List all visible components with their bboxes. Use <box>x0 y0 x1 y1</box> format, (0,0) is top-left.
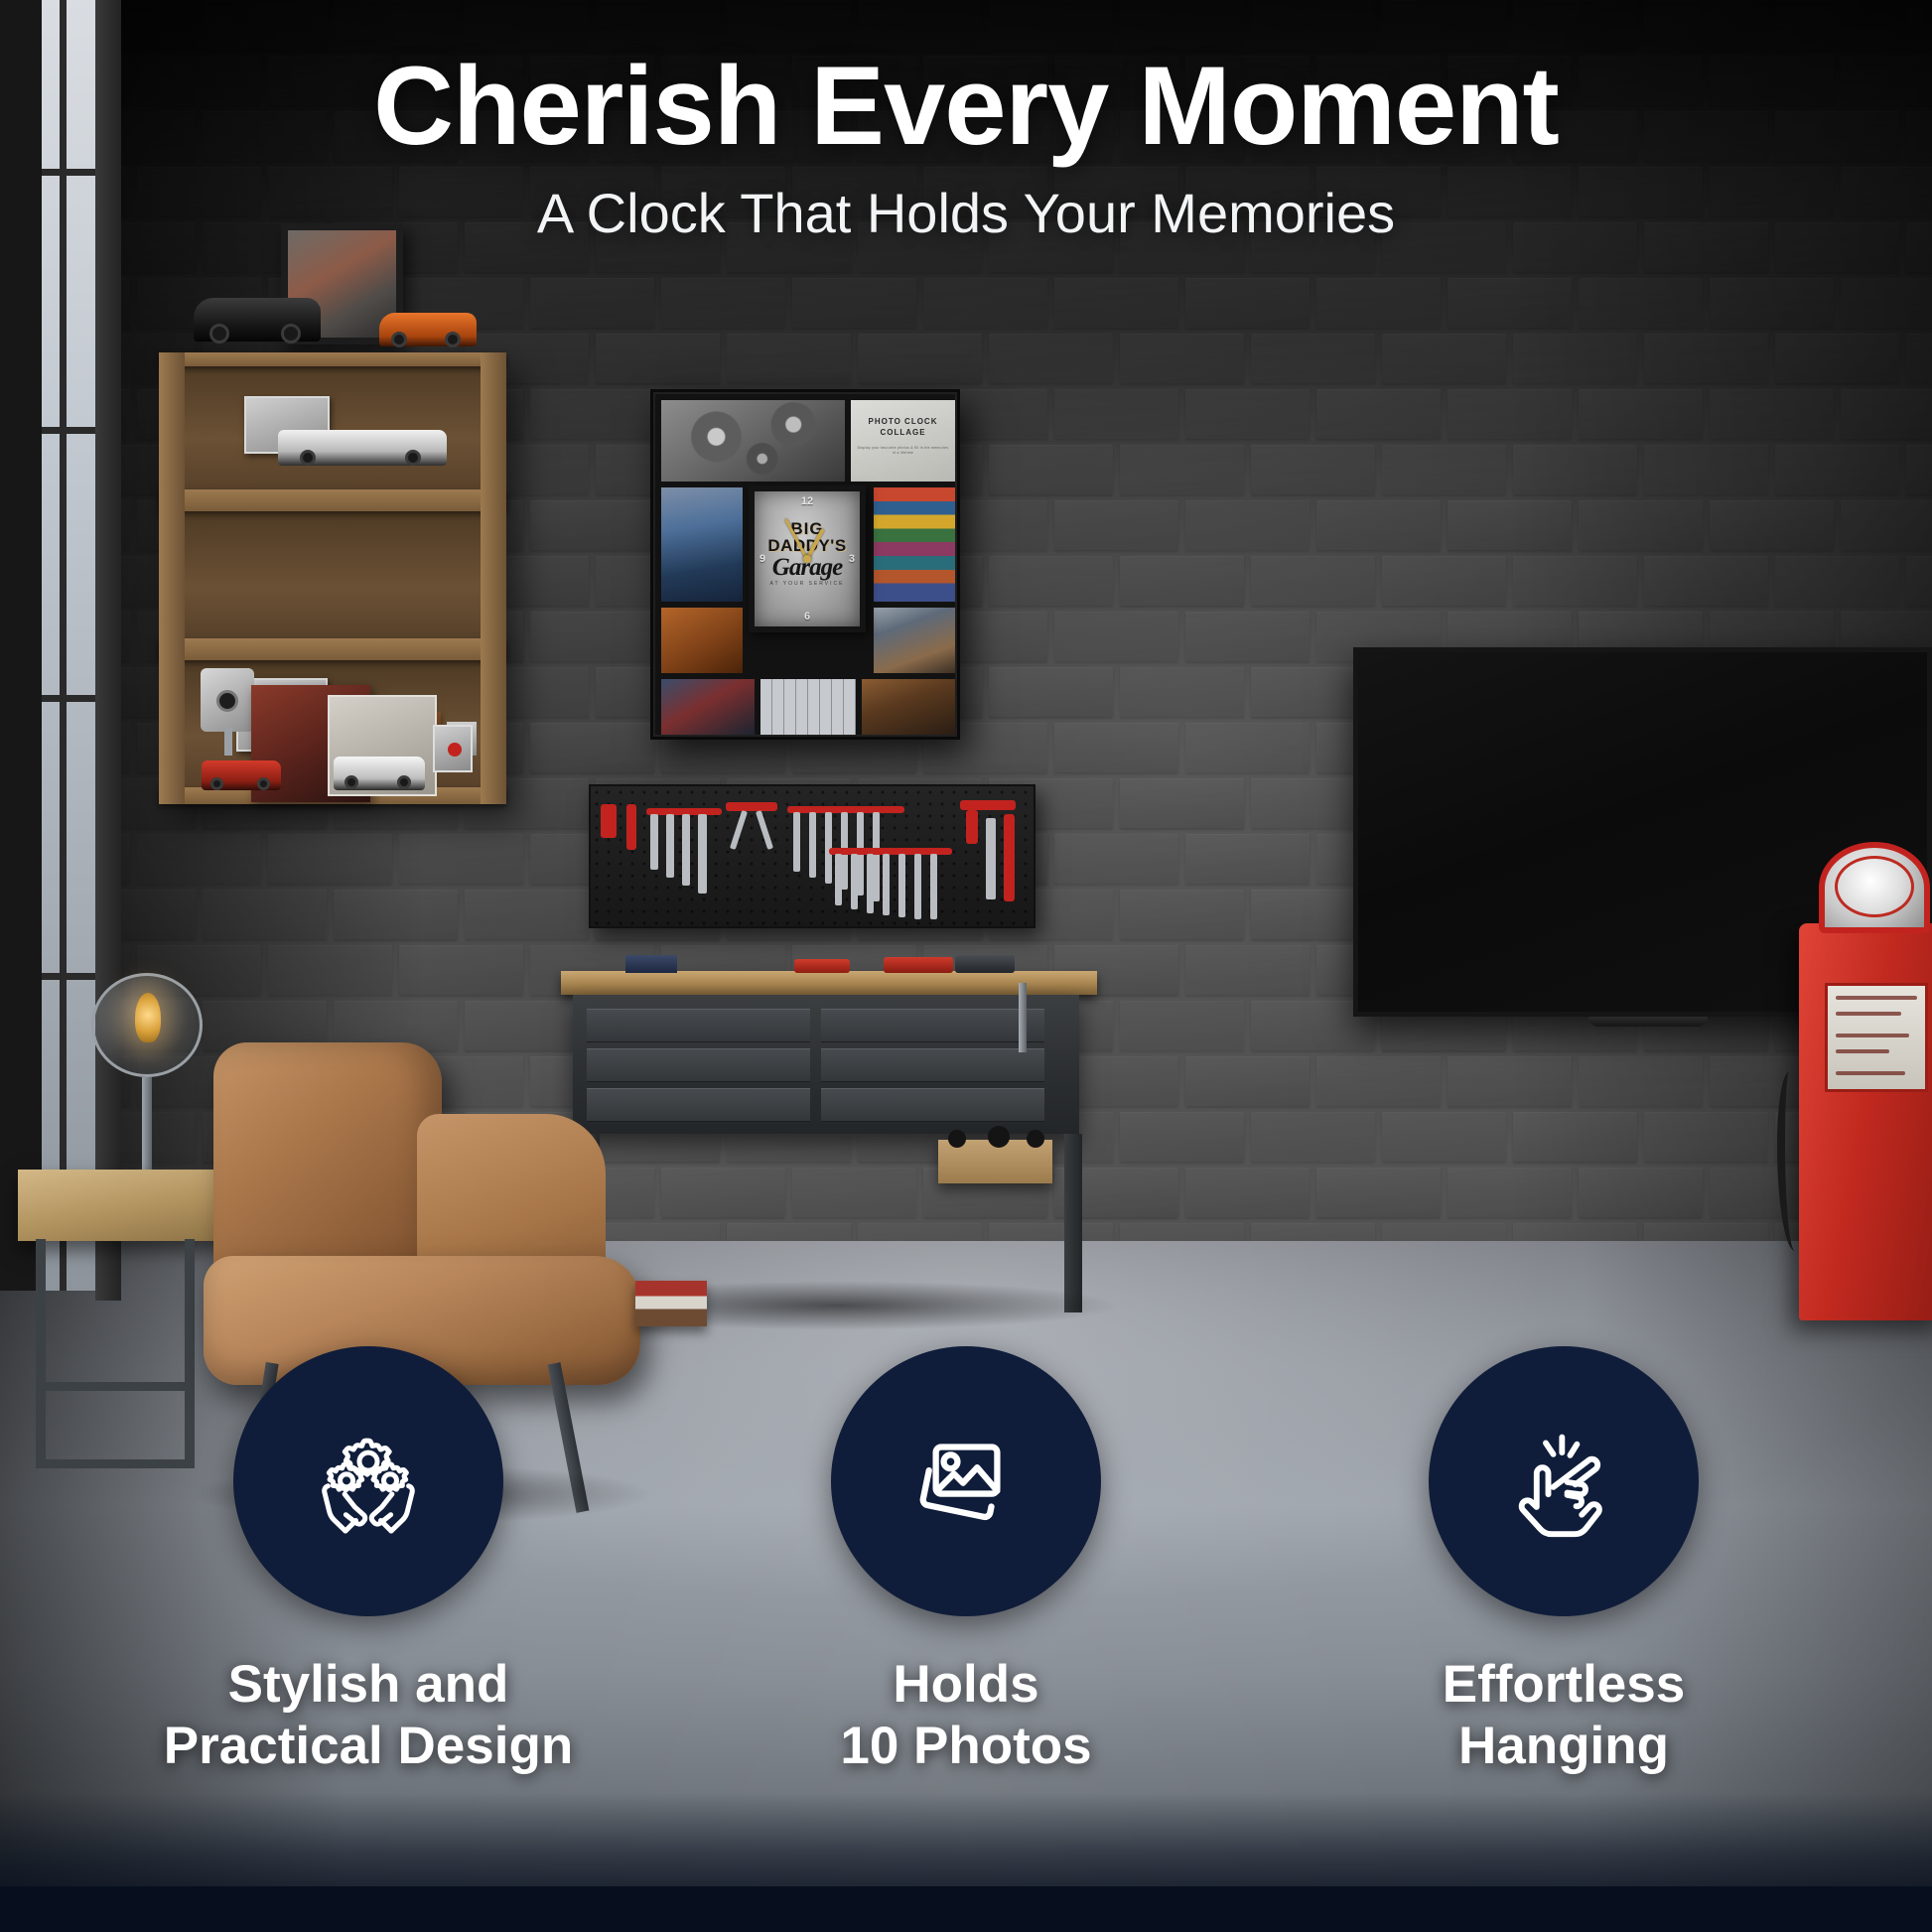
bench-item-red-tool <box>794 959 850 973</box>
pegboard-tool-red <box>1004 814 1015 901</box>
collage-photo-mechanic <box>661 487 743 602</box>
workbench-drawer <box>587 1088 810 1122</box>
workbench-drawer <box>821 1048 1044 1082</box>
feature-label-hanging: Effortless Hanging <box>1443 1654 1685 1777</box>
feature-item-design: Stylish and Practical Design <box>110 1346 626 1777</box>
card-caption: Display your favourite photos & fill in … <box>857 446 949 456</box>
shelf-bay-mid <box>185 511 481 638</box>
pegboard-tool-red <box>960 800 1016 810</box>
pegboard-pry-bar <box>986 818 996 899</box>
collage-info-card: PHOTO CLOCK COLLAGE Display your favouri… <box>851 400 955 482</box>
book-stack <box>635 1281 707 1326</box>
clock-logo-line4: AT YOUR SERVICE <box>755 581 860 587</box>
model-car-silver <box>334 757 425 790</box>
bottom-navy-bar <box>0 1886 1932 1932</box>
feature-item-hanging: Effortless Hanging <box>1306 1346 1822 1777</box>
workbench-top <box>561 971 1097 995</box>
pegboard-wrench <box>682 814 690 886</box>
wood-side-table <box>18 1170 231 1241</box>
clock-numeral-6: 6 <box>804 611 810 622</box>
pegboard-screwdriver <box>835 854 842 905</box>
shelf-side-panel <box>481 352 506 804</box>
tv-stand <box>1588 1017 1708 1027</box>
card-title: PHOTO CLOCK COLLAGE <box>851 416 955 438</box>
pegboard-wrench <box>793 812 800 872</box>
collage-photo-welding <box>661 679 755 735</box>
feature-label-line1: Stylish and <box>228 1655 509 1714</box>
feature-row: Stylish and Practical Design Holds 10 Ph… <box>0 1346 1932 1777</box>
crate-item <box>988 1126 1010 1148</box>
bench-item-tool <box>955 955 1015 973</box>
shelf-bay-top <box>185 362 481 489</box>
pegboard-tool <box>756 810 773 850</box>
feature-label-photos: Holds 10 Photos <box>840 1654 1091 1777</box>
workbench-drawer <box>587 1048 810 1082</box>
workbench-drawer <box>821 1009 1044 1042</box>
gas-pump-dial <box>1835 856 1914 917</box>
collage-photo-engine <box>862 679 955 735</box>
feature-label-line2: Practical Design <box>164 1717 573 1775</box>
banner-header: Cherish Every Moment A Clock That Holds … <box>0 48 1932 244</box>
pegboard-tool-red <box>966 810 978 844</box>
workbench-cabinet <box>573 995 1079 1134</box>
collage-photo-man <box>874 608 955 673</box>
hand-tap-icon <box>1497 1415 1630 1548</box>
pegboard-tool-red <box>601 804 617 838</box>
pegboard-screwdriver <box>914 854 921 919</box>
crate-item <box>1027 1130 1044 1148</box>
shelf-board <box>159 352 506 366</box>
model-car-black <box>194 298 321 342</box>
collage-photo-tools <box>661 608 743 673</box>
pegboard-screwdriver <box>851 854 858 909</box>
clock-numeral-12: 12 <box>801 495 813 507</box>
feature-label-design: Stylish and Practical Design <box>164 1654 573 1777</box>
pegboard-tool <box>730 810 748 850</box>
pegboard-wrench <box>873 812 880 901</box>
headline-title: Cherish Every Moment <box>0 48 1932 165</box>
model-car-red <box>202 760 281 790</box>
product-lifestyle-banner: PHOTO CLOCK COLLAGE Display your favouri… <box>0 0 1932 1932</box>
feature-label-line2: 10 Photos <box>840 1717 1091 1775</box>
hands-holding-gears-icon <box>302 1415 435 1548</box>
collage-photo-gears <box>661 400 845 482</box>
shelf-small-frame <box>433 725 473 772</box>
feature-item-photos: Holds 10 Photos <box>708 1346 1224 1777</box>
shelf-board <box>159 638 506 660</box>
shelf-speaker <box>201 668 254 732</box>
pegboard-screwdriver <box>867 854 874 913</box>
headline-subtitle: A Clock That Holds Your Memories <box>0 183 1932 244</box>
lamp-filament <box>135 993 161 1042</box>
bench-vise-handle <box>1019 983 1027 1052</box>
bench-item-box <box>625 955 677 973</box>
bench-item-red-tool <box>884 957 953 973</box>
model-car-white <box>278 430 447 466</box>
clock-hub <box>803 555 811 563</box>
pegboard-wrench <box>666 814 674 878</box>
pegboard-wrench <box>809 812 816 878</box>
lamp-stem <box>142 1077 152 1174</box>
pegboard-tool-red <box>726 802 777 811</box>
clock-logo-line1: BIG <box>755 521 860 537</box>
pegboard-screwdriver <box>898 854 905 917</box>
feature-label-line1: Holds <box>893 1655 1038 1714</box>
feature-icon-badge <box>1429 1346 1699 1616</box>
workbench-drawer <box>821 1088 1044 1122</box>
clock-logo-line2: DADDY'S <box>755 537 860 554</box>
shelf-speaker-stand <box>224 728 232 756</box>
pegboard-tool-red <box>626 804 636 850</box>
pegboard-wrench <box>698 814 707 894</box>
feature-label-line2: Hanging <box>1458 1717 1669 1775</box>
tool-pegboard <box>589 784 1035 928</box>
pegboard-wrench <box>650 814 658 870</box>
gas-pump-panel <box>1825 983 1928 1092</box>
workbench-drawer <box>587 1009 810 1042</box>
collage-photo-signs <box>874 487 955 602</box>
clock-face: 12 3 6 9 BIG DADDY'S Garage AT YOUR SERV… <box>749 485 866 632</box>
pegboard-screwdriver <box>930 854 937 919</box>
shelf-side-panel <box>159 352 185 804</box>
photo-clock-collage-product: PHOTO CLOCK COLLAGE Display your favouri… <box>650 389 960 740</box>
feature-icon-badge <box>831 1346 1101 1616</box>
collage-photo-bins <box>760 679 856 735</box>
model-car-orange <box>379 313 477 346</box>
crate-item <box>948 1130 966 1148</box>
pegboard-screwdriver <box>883 854 890 915</box>
photo-stack-icon <box>899 1415 1033 1548</box>
shelf-board <box>159 489 506 511</box>
feature-label-line1: Effortless <box>1443 1655 1685 1714</box>
feature-icon-badge <box>233 1346 503 1616</box>
